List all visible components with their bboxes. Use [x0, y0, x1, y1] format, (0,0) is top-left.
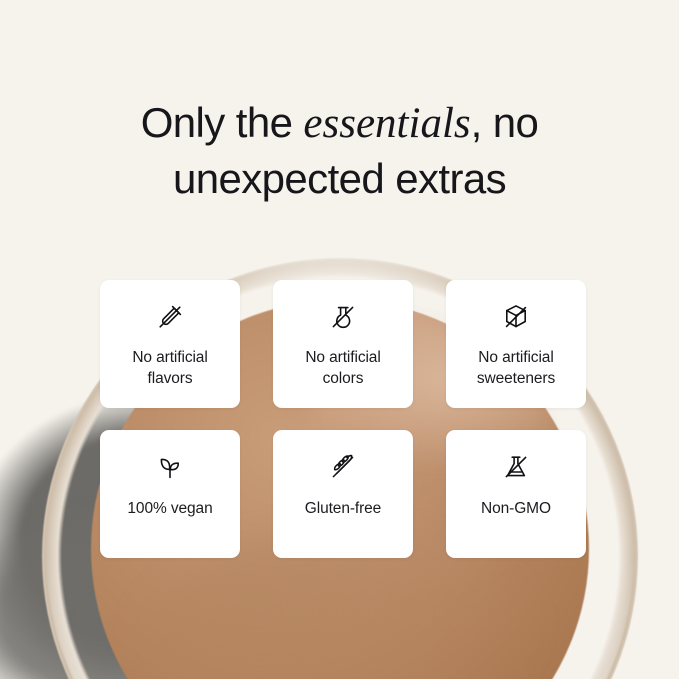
gluten-free-wheat-crossed-icon — [325, 449, 361, 485]
benefit-card-no-artificial-sweeteners[interactable]: No artificialsweeteners — [446, 280, 586, 408]
benefit-label: 100% vegan — [119, 498, 220, 519]
benefit-card-no-artificial-flavors[interactable]: No artificialflavors — [100, 280, 240, 408]
benefit-label: No artificialflavors — [124, 347, 215, 389]
benefit-card-grid: No artificialflavors No artificialcolors — [100, 280, 587, 558]
benefit-label: No artificialsweeteners — [469, 347, 563, 389]
benefit-label: Non-GMO — [473, 498, 559, 519]
headline-text-pre: Only the — [141, 99, 304, 146]
no-artificial-sweeteners-sugar-cube-crossed-icon — [498, 299, 534, 335]
benefit-card-no-artificial-colors[interactable]: No artificialcolors — [273, 280, 413, 408]
headline-text-post: , no — [471, 99, 539, 146]
benefit-card-non-gmo[interactable]: Non-GMO — [446, 430, 586, 558]
benefit-label: Gluten-free — [297, 498, 389, 519]
no-artificial-colors-flask-crossed-icon — [325, 299, 361, 335]
benefit-card-vegan[interactable]: 100% vegan — [100, 430, 240, 558]
headline-line-2: unexpected extras — [0, 151, 679, 206]
promo-image: Only the essentials, no unexpected extra… — [0, 0, 679, 679]
benefit-label: No artificialcolors — [297, 347, 388, 389]
headline-emphasis-essentials: essentials — [303, 100, 470, 147]
vegan-sprout-icon — [152, 449, 188, 485]
benefit-card-gluten-free[interactable]: Gluten-free — [273, 430, 413, 558]
no-artificial-flavors-test-tube-crossed-icon — [152, 299, 188, 335]
headline-line-1: Only the essentials, no — [0, 95, 679, 151]
headline: Only the essentials, no unexpected extra… — [0, 95, 679, 206]
non-gmo-conical-flask-crossed-icon — [498, 449, 534, 485]
